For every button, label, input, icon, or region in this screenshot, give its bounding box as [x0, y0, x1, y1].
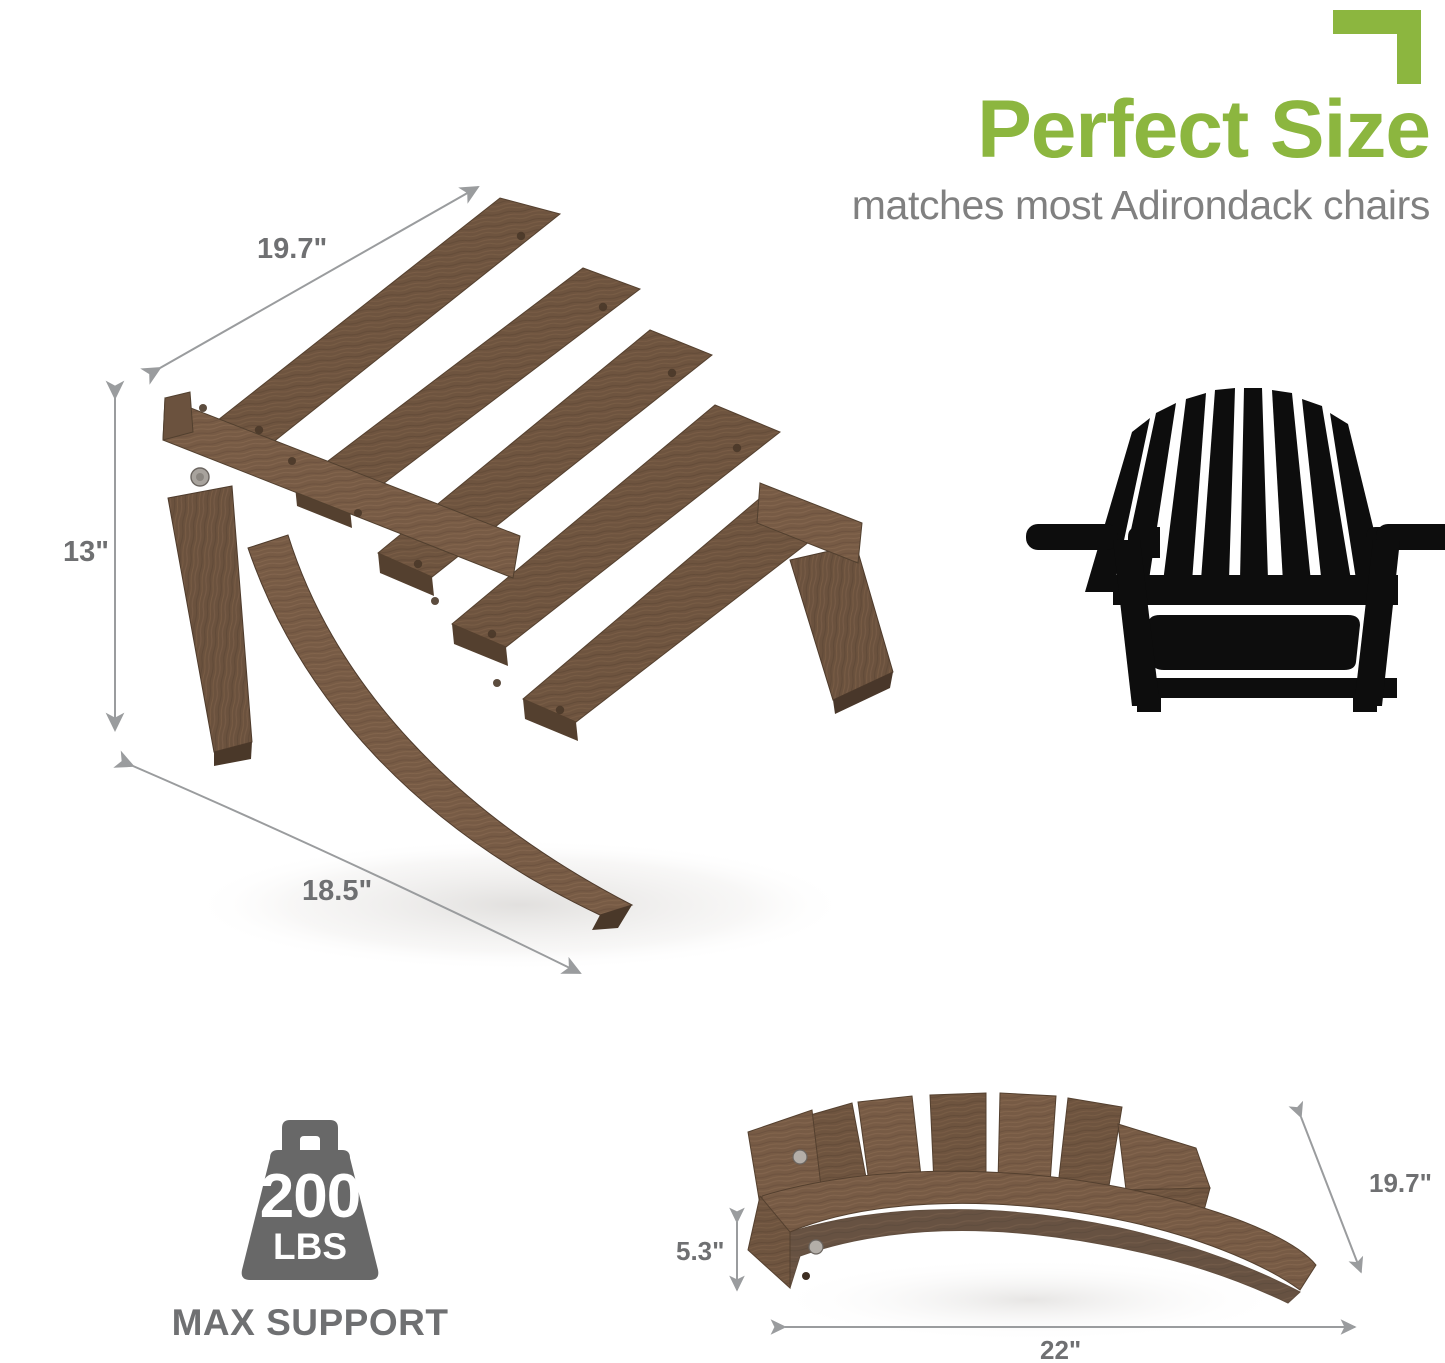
headline-block: Perfect Size matches most Adirondack cha…: [690, 88, 1430, 227]
page-title: Perfect Size: [690, 88, 1430, 172]
adirondack-ottoman-folded: [748, 1093, 1316, 1303]
dimension-lines-main: [115, 187, 580, 973]
product-shadow: [190, 839, 850, 971]
infographic-page: Perfect Size matches most Adirondack cha…: [0, 0, 1445, 1363]
adirondack-ottoman-3d: [163, 198, 893, 930]
page-subtitle: matches most Adirondack chairs: [690, 184, 1430, 227]
dimension-label-folded-length: 22": [1040, 1335, 1081, 1363]
dimension-line-19-7-folded: [1301, 1117, 1361, 1272]
dimension-label-height: 13": [63, 536, 109, 569]
dimension-label-depth: 18.5": [302, 875, 372, 908]
corner-bracket-icon: [1331, 8, 1423, 86]
dimension-line-18-5: [133, 766, 580, 973]
slat-3: [378, 330, 712, 596]
slat-5: [523, 488, 840, 741]
weight-value: 200: [220, 1166, 400, 1228]
slat-2: [295, 268, 640, 528]
weight-icon: 200 LBS: [220, 1118, 400, 1286]
weight-caption: MAX SUPPORT: [160, 1302, 460, 1344]
adirondack-chair-silhouette-icon: [1026, 388, 1445, 712]
weight-unit: LBS: [220, 1228, 400, 1265]
slat-4: [452, 405, 780, 666]
side-rail-right: [757, 483, 862, 563]
side-rail-left: [163, 392, 520, 687]
weight-badge: 200 LBS MAX SUPPORT: [160, 1118, 460, 1344]
dimension-lines-folded: [737, 1117, 1361, 1327]
dimension-label-folded-depth: 19.7": [1369, 1168, 1432, 1199]
dimension-label-width: 19.7": [257, 233, 327, 266]
dimension-label-folded-height: 5.3": [676, 1236, 724, 1267]
dimension-line-19-7: [160, 187, 478, 368]
folded-shadow: [770, 1258, 1290, 1342]
